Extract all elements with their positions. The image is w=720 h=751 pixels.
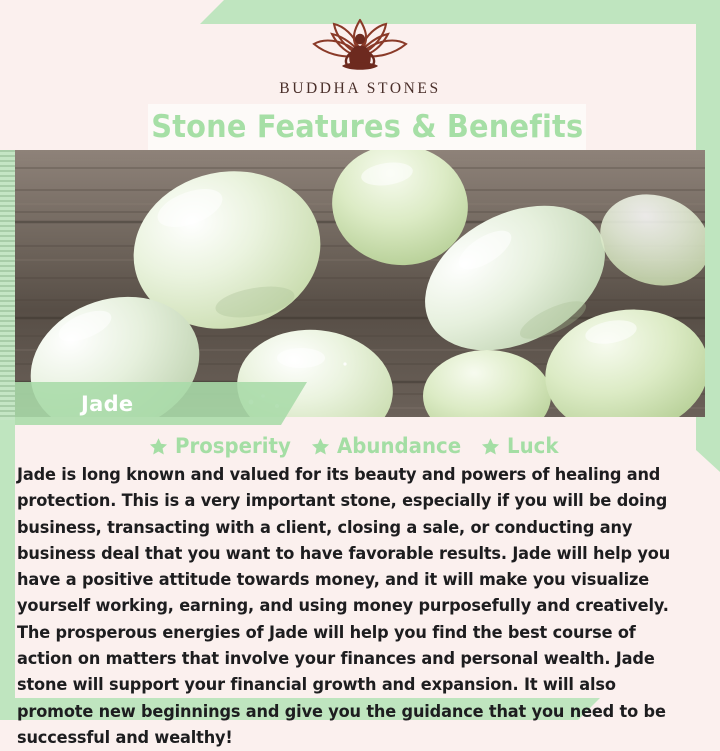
stone-description: Jade is long known and valued for its be… (17, 462, 695, 751)
brand-name: BUDDHA STONES (279, 80, 440, 98)
page-title: Stone Features & Benefits (151, 109, 583, 145)
keyword-item-luck: Luck (481, 434, 562, 458)
stone-name: Jade (81, 392, 133, 416)
keyword-label: Prosperity (175, 434, 291, 458)
title-band: Stone Features & Benefits (148, 104, 586, 150)
jade-stones-illustration (15, 150, 705, 417)
infographic-page: BUDDHA STONES Stone Features & Benefits (0, 0, 720, 720)
keyword-label: Luck (507, 434, 558, 458)
stone-photo (15, 150, 705, 417)
brand-logo: BUDDHA STONES (0, 16, 720, 106)
star-icon (311, 437, 330, 456)
keyword-item-abundance: Abundance (311, 434, 469, 458)
star-icon (481, 437, 500, 456)
lotus-meditation-icon (298, 16, 422, 78)
keyword-item-prosperity: Prosperity (149, 434, 298, 458)
star-icon (149, 437, 168, 456)
keyword-row: Prosperity Abundance Luck (15, 430, 696, 462)
keyword-label: Abundance (337, 434, 461, 458)
stone-name-banner: Jade (15, 382, 307, 425)
frame-accent-left-texture (0, 150, 15, 420)
